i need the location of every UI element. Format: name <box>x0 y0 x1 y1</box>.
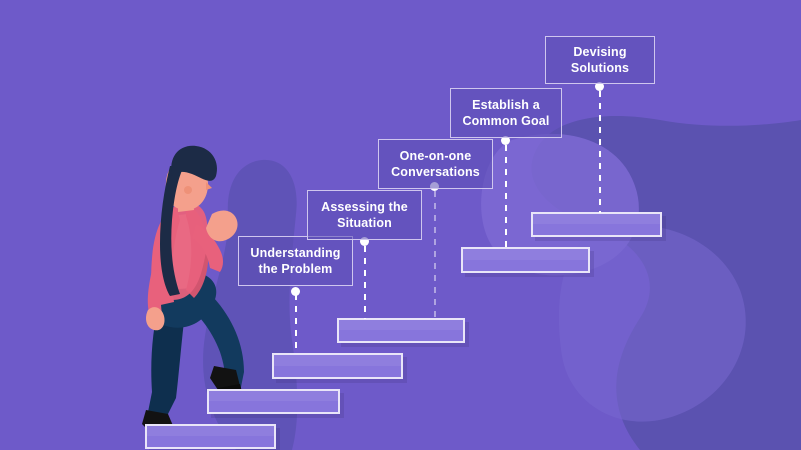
infographic-canvas: Understanding the Problem Assessing the … <box>0 0 801 450</box>
milestone-label-devising-solutions[interactable]: Devising Solutions <box>545 36 655 84</box>
milestone-label-establish-a-common-goal[interactable]: Establish a Common Goal <box>450 88 562 138</box>
milestone-label-one-on-one-conversations[interactable]: One-on-one Conversations <box>378 139 493 189</box>
milestone-label-assessing-the-situation[interactable]: Assessing the Situation <box>307 190 422 240</box>
milestone-labels: Understanding the Problem Assessing the … <box>0 0 801 450</box>
milestone-label-understanding-the-problem[interactable]: Understanding the Problem <box>238 236 353 286</box>
